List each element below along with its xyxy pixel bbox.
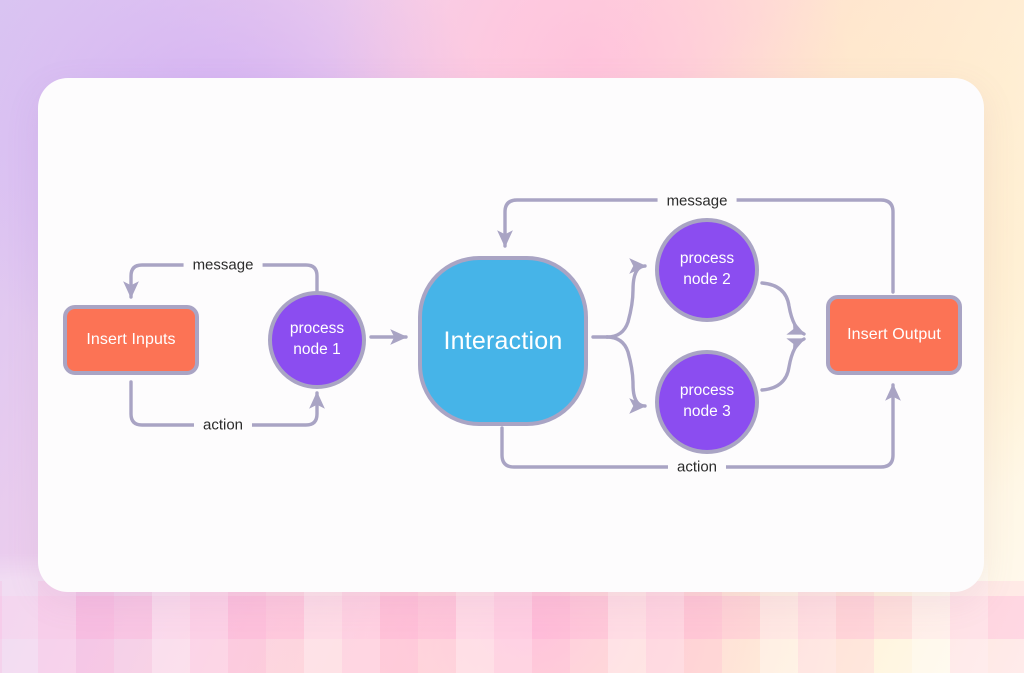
diagram-card: Insert Inputs process node 1 Interaction… [38, 78, 984, 592]
node-process-node-1-label-line1: process [290, 320, 344, 337]
edge-label-message-right: message [658, 193, 737, 210]
node-process-node-3-label: process node 3 [680, 381, 734, 423]
node-insert-inputs-label: Insert Inputs [86, 331, 175, 349]
node-insert-inputs[interactable]: Insert Inputs [63, 305, 199, 375]
edge-interaction-to-node2 [607, 266, 645, 337]
node-insert-output-label: Insert Output [847, 326, 941, 344]
node-process-node-2-label-line2: node 2 [683, 271, 730, 288]
edge-interaction-to-node3 [607, 337, 645, 406]
node-process-node-2-label: process node 2 [680, 249, 734, 291]
edge-node3-to-output [762, 339, 804, 390]
node-process-node-3-label-line1: process [680, 382, 734, 399]
node-process-node-2[interactable]: process node 2 [655, 218, 759, 322]
flow-diagram: Insert Inputs process node 1 Interaction… [38, 78, 984, 592]
edge-label-action-left: action [194, 417, 252, 434]
background-checker-pattern-secondary [0, 581, 1024, 673]
edge-label-action-right: action [668, 459, 726, 476]
node-interaction-label: Interaction [444, 327, 563, 356]
screenshot-stage: Insert Inputs process node 1 Interaction… [0, 0, 1024, 673]
node-interaction[interactable]: Interaction [418, 256, 588, 426]
node-process-node-1-label: process node 1 [290, 319, 344, 361]
edge-node2-to-output [762, 283, 804, 334]
node-process-node-2-label-line1: process [680, 250, 734, 267]
node-process-node-3-label-line2: node 3 [683, 403, 730, 420]
node-process-node-1-label-line2: node 1 [293, 341, 340, 358]
node-process-node-1[interactable]: process node 1 [268, 291, 366, 389]
node-insert-output[interactable]: Insert Output [826, 295, 962, 375]
edge-label-message-left: message [184, 257, 263, 274]
node-process-node-3[interactable]: process node 3 [655, 350, 759, 454]
